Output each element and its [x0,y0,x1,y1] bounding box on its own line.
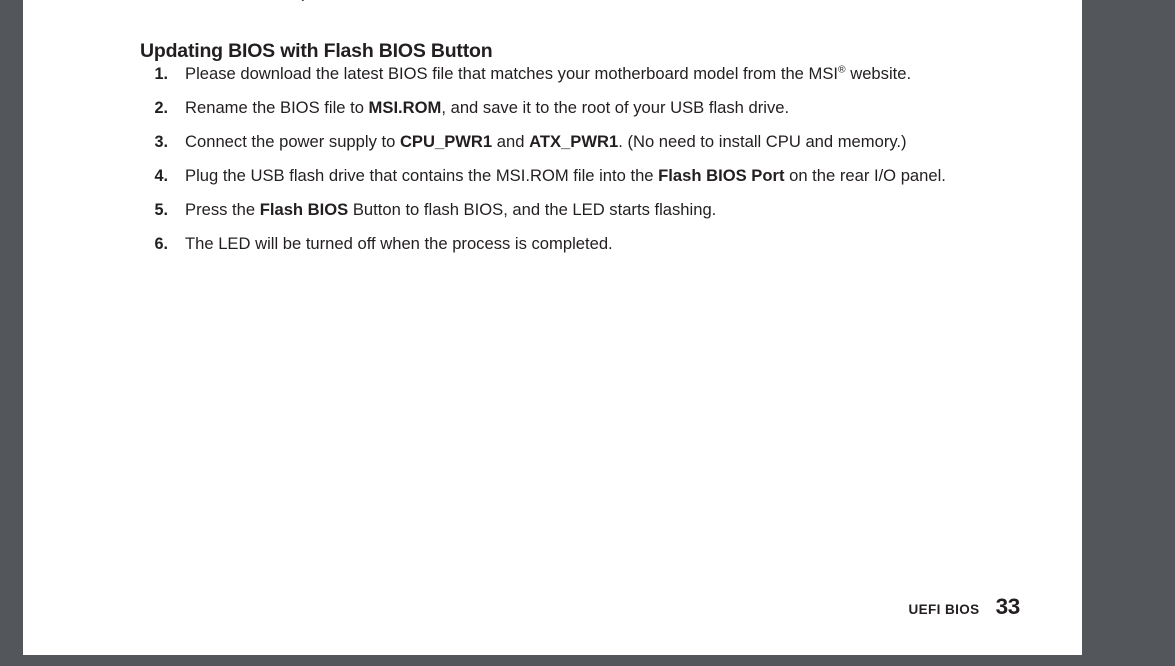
steps-list: 1.Please download the latest BIOS file t… [140,62,1000,266]
list-item: 6.The LED will be turned off when the pr… [140,232,1000,256]
body-text: Plug the USB flash drive that contains t… [185,166,658,185]
body-text: on the rear I/O panel. [784,166,945,185]
list-item: 5.Press the Flash BIOS Button to flash B… [140,198,1000,222]
emphasis-text: Flash BIOS Port [658,166,784,185]
list-item-text: Connect the power supply to CPU_PWR1 and… [185,130,975,154]
body-text: . (No need to install CPU and memory.) [618,132,906,151]
body-text: The LED will be turned off when the proc… [185,234,613,253]
footer-page-number: 33 [996,594,1020,620]
registered-trademark-symbol: ® [838,64,846,75]
body-text: Please download the latest BIOS file tha… [185,64,838,83]
body-text: website. [846,64,911,83]
list-item-text: Press the Flash BIOS Button to flash BIO… [185,198,975,222]
list-item-text: Please download the latest BIOS file tha… [185,62,975,86]
list-item: 4.Plug the USB flash drive that contains… [140,164,1000,188]
list-item: 3.Connect the power supply to CPU_PWR1 a… [140,130,1000,154]
body-text: Button to flash BIOS, and the LED starts… [348,200,716,219]
list-item-text: Rename the BIOS file to MSI.ROM, and sav… [185,96,975,120]
body-text: and [492,132,529,151]
list-item-number: 3. [140,130,185,154]
emphasis-text: MSI.ROM [369,98,442,117]
body-text: Rename the BIOS file to [185,98,369,117]
list-item-number: 2. [140,96,185,120]
list-item-number: 1. [140,62,185,86]
list-item-text: Plug the USB flash drive that contains t… [185,164,975,188]
list-item: 1.Please download the latest BIOS file t… [140,62,1000,86]
body-text: , and save it to the root of your USB fl… [441,98,789,117]
list-item: 2.Rename the BIOS file to MSI.ROM, and s… [140,96,1000,120]
list-item-text: The LED will be turned off when the proc… [185,232,975,256]
emphasis-text: CPU_PWR1 [400,132,492,151]
list-item-number: 5. [140,198,185,222]
footer-chapter-label: UEFI BIOS [908,602,979,617]
page-title: Updating BIOS with Flash BIOS Button [140,40,492,63]
clipped-text-fragment: y [300,0,306,1]
body-text: Connect the power supply to [185,132,400,151]
pdf-page: y Updating BIOS with Flash BIOS Button 1… [23,0,1082,655]
emphasis-text: ATX_PWR1 [529,132,618,151]
list-item-number: 6. [140,232,185,256]
page-footer: UEFI BIOS 33 [908,594,1020,620]
page-content-area: y Updating BIOS with Flash BIOS Button 1… [23,0,1082,655]
emphasis-text: Flash BIOS [260,200,349,219]
body-text: Press the [185,200,260,219]
list-item-number: 4. [140,164,185,188]
